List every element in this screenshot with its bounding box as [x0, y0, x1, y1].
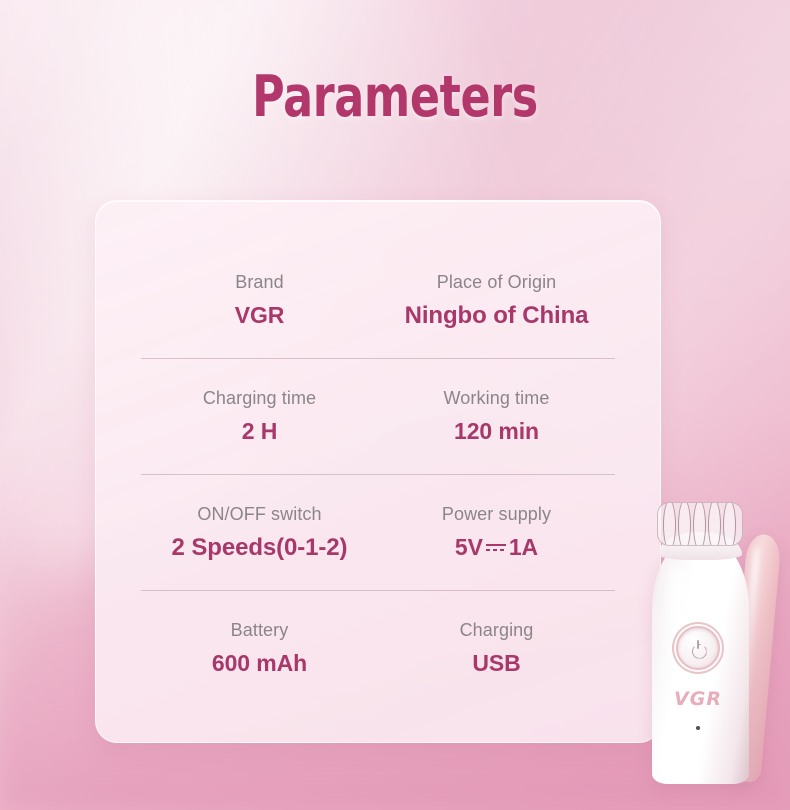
product-brand-logo: VGR [630, 688, 766, 710]
spec-label: ON/OFF switch [145, 502, 374, 526]
spec-cell-charging-time: Charging time 2 H [141, 386, 378, 446]
tweezer-disc [663, 502, 676, 546]
spec-cell-working-time: Working time 120 min [378, 386, 615, 446]
parameters-card: Brand VGR Place of Origin Ningbo of Chin… [95, 200, 661, 743]
power-supply-voltage: 5V [455, 534, 483, 560]
spec-cell-place-of-origin: Place of Origin Ningbo of China [378, 270, 615, 331]
product-image-epilator: VGR [630, 498, 790, 788]
spec-row: ON/OFF switch 2 Speeds(0-1-2) Power supp… [141, 474, 615, 590]
tweezer-disc [678, 502, 691, 546]
product-led-indicator [696, 726, 700, 730]
spec-row: Charging time 2 H Working time 120 min [141, 358, 615, 474]
spec-cell-power-supply: Power supply 5V1A [378, 502, 615, 562]
tweezer-disc [693, 502, 706, 546]
spec-cell-brand: Brand VGR [141, 270, 378, 330]
spec-value: VGR [145, 301, 374, 331]
tweezer-disc [723, 502, 736, 546]
epilator-head-icon [657, 502, 743, 546]
spec-label: Power supply [382, 502, 611, 526]
power-icon [691, 641, 706, 656]
spec-value: 2 Speeds(0-1-2) [145, 532, 374, 563]
spec-label: Battery [145, 618, 374, 642]
spec-value: 120 min [382, 417, 611, 447]
tweezer-disc [708, 502, 721, 546]
spec-value: USB [382, 649, 611, 679]
spec-value: Ningbo of China [382, 300, 611, 331]
spec-value: 2 H [145, 417, 374, 447]
spec-label: Brand [145, 270, 374, 294]
spec-row: Battery 600 mAh Charging USB [141, 590, 615, 706]
spec-value: 600 mAh [145, 649, 374, 679]
product-power-button [676, 626, 720, 670]
dc-power-symbol-icon [485, 543, 507, 554]
spec-value: 5V1A [382, 533, 611, 563]
spec-label: Charging [382, 618, 611, 642]
page-title: Parameters [87, 64, 703, 130]
spec-cell-onoff-switch: ON/OFF switch 2 Speeds(0-1-2) [141, 502, 378, 563]
spec-label: Charging time [145, 386, 374, 410]
spec-label: Working time [382, 386, 611, 410]
power-supply-current: 1A [509, 534, 538, 560]
spec-row: Brand VGR Place of Origin Ningbo of Chin… [141, 243, 615, 358]
spec-label: Place of Origin [382, 270, 611, 294]
spec-cell-battery: Battery 600 mAh [141, 618, 378, 678]
spec-cell-charging: Charging USB [378, 618, 615, 678]
